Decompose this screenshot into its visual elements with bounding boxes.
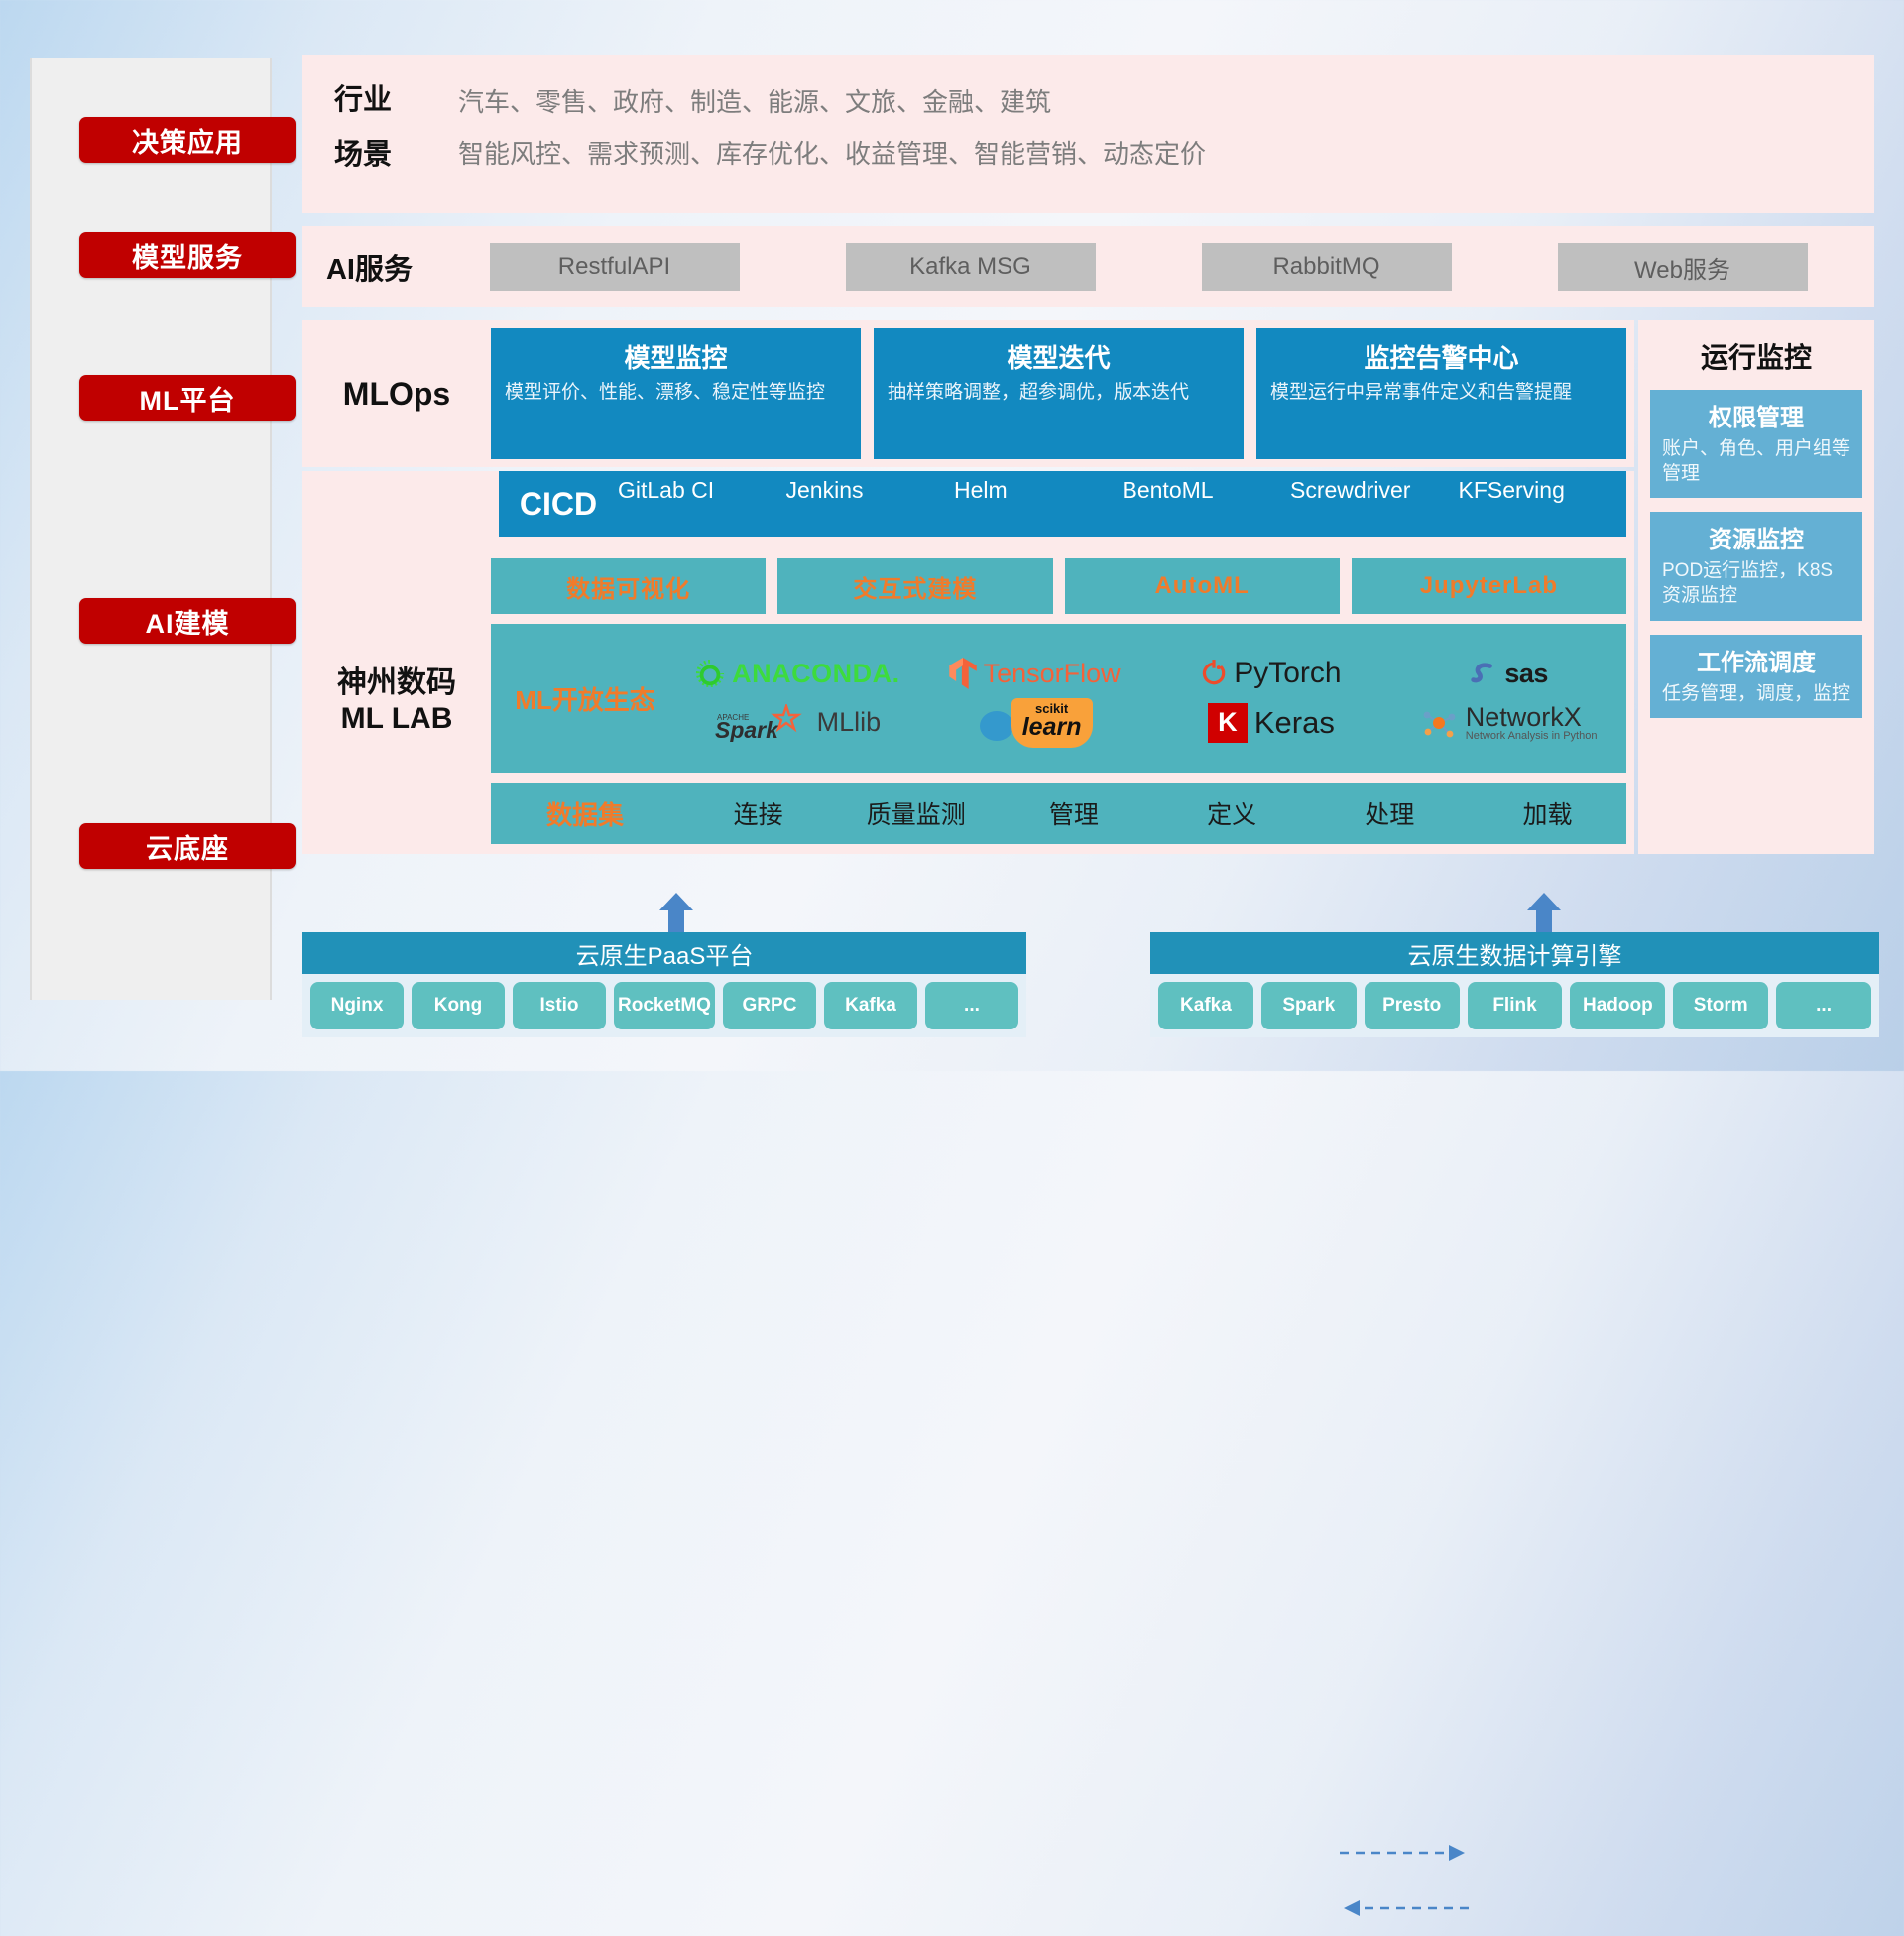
- paas-pill-more[interactable]: ...: [925, 982, 1018, 1029]
- svg-text:Spark: Spark: [715, 717, 779, 742]
- cicd-item-bentoml[interactable]: BentoML: [1123, 477, 1291, 531]
- industry-scenario-band: 行业 场景 汽车、零售、政府、制造、能源、文旅、金融、建筑 智能风控、需求预测、…: [302, 55, 1874, 213]
- paas-pill-kafka[interactable]: Kafka: [824, 982, 917, 1029]
- ai-service-band: AI服务 RestfulAPI Kafka MSG RabbitMQ Web服务: [302, 226, 1874, 307]
- band-gap-2: [302, 307, 1874, 320]
- cicd-item-helm[interactable]: Helm: [954, 477, 1123, 531]
- paas-pill-nginx[interactable]: Nginx: [310, 982, 404, 1029]
- card-title: 模型迭代: [888, 338, 1230, 375]
- cicd-item-screwdriver[interactable]: Screwdriver: [1290, 477, 1459, 531]
- sas-logo-text: sas: [1504, 659, 1548, 689]
- industry-scenario-keys: 行业 场景: [302, 70, 458, 195]
- dataset-item-connect[interactable]: 连接: [679, 795, 837, 831]
- tool-interactive-modeling[interactable]: 交互式建模: [777, 558, 1052, 614]
- card-title: 权限管理: [1662, 398, 1850, 432]
- paas-pill-kong[interactable]: Kong: [412, 982, 505, 1029]
- rail-item-model-service[interactable]: 模型服务: [79, 232, 296, 278]
- scenario-value: 智能风控、需求预测、库存优化、收益管理、智能营销、动态定价: [458, 141, 1874, 167]
- data-engine-pill-shelf: Kafka Spark Presto Flink Hadoop Storm ..…: [1150, 974, 1879, 1037]
- monitor-card-resource[interactable]: 资源监控 POD运行监控，K8S资源监控: [1650, 512, 1862, 620]
- ml-lab-label-line1: 神州数码: [302, 665, 491, 701]
- card-title: 工作流调度: [1662, 643, 1850, 677]
- rail-item-ai-modeling[interactable]: AI建模: [79, 598, 296, 644]
- scikit-learn-badge: scikit learn: [1011, 698, 1093, 748]
- ai-service-chip-rabbitmq[interactable]: RabbitMQ: [1202, 243, 1452, 291]
- sas-logo: sas: [1389, 659, 1626, 689]
- keras-logo-text: Keras: [1254, 705, 1335, 741]
- platform-stack: MLOps 模型监控 模型评价、性能、漂移、稳定性等监控 模型迭代 抽样策略调整…: [302, 320, 1634, 854]
- keras-mark-icon: K: [1208, 703, 1248, 743]
- card-desc: 任务管理，调度，监控: [1662, 682, 1850, 707]
- card-desc: 模型评价、性能、漂移、稳定性等监控: [505, 381, 847, 406]
- paas-platform: 云原生PaaS平台 Nginx Kong Istio RocketMQ GRPC…: [302, 932, 1026, 1037]
- apache-spark-mark-icon: APACHE Spark: [715, 704, 810, 742]
- cicd-items: GitLab CI Jenkins Helm BentoML Screwdriv…: [618, 477, 1626, 531]
- dataset-item-quality[interactable]: 质量监测: [837, 795, 995, 831]
- anaconda-mark-icon: [695, 659, 725, 688]
- tool-data-visualization[interactable]: 数据可视化: [491, 558, 766, 614]
- cicd-band: CICD GitLab CI Jenkins Helm BentoML Scre…: [499, 471, 1626, 537]
- dataset-item-manage[interactable]: 管理: [995, 795, 1152, 831]
- rail-item-ml-platform[interactable]: ML平台: [79, 375, 296, 421]
- card-title: 模型监控: [505, 338, 847, 375]
- rail-item-cloud-base[interactable]: 云底座: [79, 823, 296, 869]
- engine-pill-kafka[interactable]: Kafka: [1158, 982, 1253, 1029]
- dataset-item-load[interactable]: 加载: [1469, 795, 1626, 831]
- ai-service-chip-kafka-msg[interactable]: Kafka MSG: [846, 243, 1096, 291]
- paas-pill-shelf: Nginx Kong Istio RocketMQ GRPC Kafka ...: [302, 974, 1026, 1037]
- data-compute-engine: 云原生数据计算引擎 Kafka Spark Presto Flink Hadoo…: [1150, 932, 1879, 1037]
- paas-pill-istio[interactable]: Istio: [513, 982, 606, 1029]
- mlops-card-model-monitoring[interactable]: 模型监控 模型评价、性能、漂移、稳定性等监控: [491, 328, 861, 459]
- anaconda-logo: ANACONDA.: [679, 659, 916, 689]
- cicd-wrapper: CICD GitLab CI Jenkins Helm BentoML Scre…: [302, 471, 1634, 548]
- paas-up-arrow-icon: [659, 893, 693, 934]
- ml-ecosystem-label: ML开放生态: [491, 680, 679, 717]
- engine-pill-hadoop[interactable]: Hadoop: [1570, 982, 1665, 1029]
- ai-modeling-stack: 数据可视化 交互式建模 AutoML JupyterLab ML开放生态: [491, 558, 1634, 844]
- ai-service-chip-web-service[interactable]: Web服务: [1558, 243, 1808, 291]
- rail-item-label: 决策应用: [132, 121, 243, 160]
- card-desc: 账户、角色、用户组等管理: [1662, 437, 1850, 486]
- keras-logo: K Keras: [1153, 703, 1390, 743]
- monitor-card-permission[interactable]: 权限管理 账户、角色、用户组等管理: [1650, 390, 1862, 498]
- main-column: 行业 场景 汽车、零售、政府、制造、能源、文旅、金融、建筑 智能风控、需求预测、…: [302, 55, 1874, 854]
- arrow-head-right: [1449, 1845, 1465, 1861]
- tensorflow-logo: TensorFlow: [916, 658, 1153, 689]
- networkx-mark-icon: [1419, 705, 1459, 741]
- ml-lab-label-line2: ML LAB: [302, 701, 491, 737]
- mlops-label: MLOps: [302, 376, 491, 413]
- anaconda-logo-text: ANACONDA.: [732, 659, 900, 689]
- engine-pill-spark[interactable]: Spark: [1261, 982, 1357, 1029]
- ml-ecosystem-logos: ANACONDA. TensorFlow: [679, 649, 1626, 748]
- ai-service-chips: RestfulAPI Kafka MSG RabbitMQ Web服务: [436, 243, 1874, 291]
- monitor-card-workflow[interactable]: 工作流调度 任务管理，调度，监控: [1650, 635, 1862, 719]
- arrow-head-left: [1344, 1900, 1360, 1916]
- architecture-diagram: 决策应用 模型服务 ML平台 AI建模 云底座 行业 场景 汽车、零售、政府、制…: [0, 0, 1904, 1071]
- engine-pill-storm[interactable]: Storm: [1673, 982, 1768, 1029]
- cicd-title: CICD: [499, 486, 618, 523]
- data-engine-up-arrow-icon: [1527, 893, 1561, 934]
- dataset-item-define[interactable]: 定义: [1153, 795, 1311, 831]
- scikit-learn-logo: scikit learn: [916, 698, 1153, 748]
- networkx-text-block: NetworkX Network Analysis in Python: [1466, 703, 1598, 743]
- mlops-cards: 模型监控 模型评价、性能、漂移、稳定性等监控 模型迭代 抽样策略调整，超参调优，…: [491, 328, 1634, 459]
- pytorch-mark-icon: [1201, 659, 1227, 688]
- dataset-label: 数据集: [491, 795, 679, 832]
- pytorch-logo-text: PyTorch: [1234, 657, 1341, 690]
- card-desc: 模型运行中异常事件定义和告警提醒: [1270, 381, 1612, 406]
- cicd-item-kfserving[interactable]: KFServing: [1459, 477, 1627, 531]
- rail-item-label: AI建模: [146, 602, 230, 641]
- cicd-item-gitlab-ci[interactable]: GitLab CI: [618, 477, 786, 531]
- dataset-items: 连接 质量监测 管理 定义 处理 加载: [679, 795, 1626, 831]
- engine-pill-more[interactable]: ...: [1776, 982, 1871, 1029]
- ml-ecosystem-band: ML开放生态 ANACONDA.: [491, 624, 1626, 773]
- modeling-tools: 数据可视化 交互式建模 AutoML JupyterLab: [491, 558, 1626, 614]
- rail-item-label: 模型服务: [132, 236, 243, 275]
- networkx-logo-text: NetworkX: [1466, 703, 1598, 731]
- card-desc: 抽样策略调整，超参调优，版本迭代: [888, 381, 1230, 406]
- industry-key: 行业: [334, 86, 458, 115]
- ml-lab-label: 神州数码 ML LAB: [302, 665, 491, 737]
- mlops-card-alert-center[interactable]: 监控告警中心 模型运行中异常事件定义和告警提醒: [1256, 328, 1626, 459]
- industry-scenario-values: 汽车、零售、政府、制造、能源、文旅、金融、建筑 智能风控、需求预测、库存优化、收…: [458, 73, 1874, 192]
- industry-value: 汽车、零售、政府、制造、能源、文旅、金融、建筑: [458, 89, 1874, 115]
- paas-pill-grpc[interactable]: GRPC: [723, 982, 816, 1029]
- rail-item-label: 云底座: [146, 827, 229, 866]
- data-engine-title: 云原生数据计算引擎: [1150, 932, 1879, 974]
- paas-pill-rocketmq[interactable]: RocketMQ: [614, 982, 715, 1029]
- ai-service-chip-restfulapi[interactable]: RestfulAPI: [490, 243, 740, 291]
- dataset-item-process[interactable]: 处理: [1311, 795, 1469, 831]
- mllib-logo-text: MLlib: [817, 707, 882, 738]
- card-title: 资源监控: [1662, 520, 1850, 554]
- runtime-monitor-title: 运行监控: [1638, 320, 1874, 390]
- tensorflow-mark-icon: [949, 658, 977, 689]
- pytorch-logo: PyTorch: [1153, 657, 1390, 690]
- networkx-logo: NetworkX Network Analysis in Python: [1389, 703, 1626, 743]
- rail-item-label: ML平台: [140, 379, 236, 418]
- networkx-tagline: Network Analysis in Python: [1466, 731, 1598, 743]
- card-desc: POD运行监控，K8S资源监控: [1662, 559, 1850, 608]
- ai-modeling-band: 神州数码 ML LAB 数据可视化 交互式建模 AutoML JupyterLa…: [302, 548, 1634, 854]
- engine-pill-flink[interactable]: Flink: [1468, 982, 1563, 1029]
- card-title: 监控告警中心: [1270, 338, 1612, 375]
- scikit-learn-logo-text: learn: [1022, 716, 1082, 740]
- cicd-item-jenkins[interactable]: Jenkins: [786, 477, 955, 531]
- cloud-base-section: 云原生PaaS平台 Nginx Kong Istio RocketMQ GRPC…: [302, 893, 1879, 1051]
- dataset-band: 数据集 连接 质量监测 管理 定义 处理 加载: [491, 783, 1626, 844]
- engine-pill-presto[interactable]: Presto: [1365, 982, 1460, 1029]
- tool-jupyterlab[interactable]: JupyterLab: [1352, 558, 1626, 614]
- mlops-card-model-iteration[interactable]: 模型迭代 抽样策略调整，超参调优，版本迭代: [874, 328, 1244, 459]
- bidirectional-link-arrows: [1340, 1837, 1469, 1936]
- scenario-key: 场景: [334, 141, 458, 170]
- platform-monitor-split: MLOps 模型监控 模型评价、性能、漂移、稳定性等监控 模型迭代 抽样策略调整…: [302, 320, 1874, 854]
- runtime-monitor-column: 运行监控 权限管理 账户、角色、用户组等管理 资源监控 POD运行监控，K8S资…: [1638, 320, 1874, 854]
- tensorflow-logo-text: TensorFlow: [984, 659, 1121, 689]
- sas-mark-icon: [1468, 659, 1497, 688]
- rail-item-decision-app[interactable]: 决策应用: [79, 117, 296, 163]
- ai-service-label: AI服务: [302, 246, 436, 288]
- band-gap: [302, 213, 1874, 226]
- mlops-band: MLOps 模型监控 模型评价、性能、漂移、稳定性等监控 模型迭代 抽样策略调整…: [302, 320, 1634, 467]
- spark-mllib-logo: APACHE Spark MLlib: [679, 704, 916, 742]
- layer-rail: 决策应用 模型服务 ML平台 AI建模 云底座: [30, 58, 272, 1000]
- paas-platform-title: 云原生PaaS平台: [302, 932, 1026, 974]
- tool-automl[interactable]: AutoML: [1065, 558, 1340, 614]
